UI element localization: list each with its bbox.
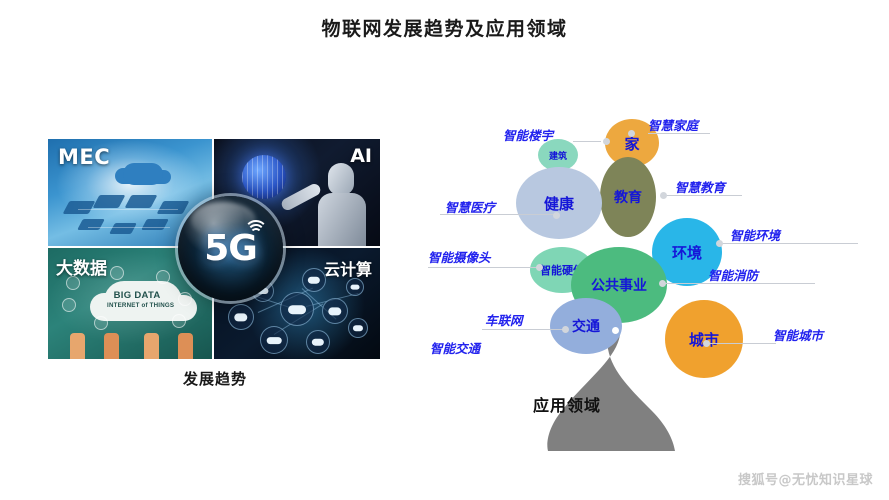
cloud-node-icon	[322, 298, 348, 324]
cloud-node-icon	[302, 268, 326, 292]
send-icon	[156, 270, 170, 284]
connector-knob-smart-fire	[659, 280, 666, 287]
right-caption: 应用领域	[533, 392, 601, 416]
server-tile-icon	[141, 219, 169, 230]
connector-knob-smart-medical	[553, 212, 560, 219]
collage-label-mec: MEC	[58, 145, 110, 169]
cloud-node-icon	[228, 304, 254, 330]
connector-knob-smart-city	[703, 340, 710, 347]
network-link	[88, 227, 170, 228]
cloud-node-icon	[306, 330, 330, 354]
domain-bubble-chengshi[interactable]: 城市	[665, 300, 743, 378]
connector-line-smart-city	[708, 343, 776, 344]
connector-line-smart-building	[573, 141, 601, 142]
connector-line-smart-camera	[428, 267, 538, 268]
domain-bubble-jiaotong[interactable]: 交通	[550, 298, 622, 354]
collage-label-big-data: 大数据	[56, 254, 107, 279]
cloud-node-icon	[348, 318, 368, 338]
shield-icon	[172, 314, 186, 328]
robot-body-icon	[318, 193, 366, 246]
hand-phone-icon	[178, 333, 193, 359]
five-g-label: 5G	[178, 196, 283, 301]
network-link	[78, 209, 178, 210]
leaf-label-smart-building: 智能楼宇	[503, 125, 553, 144]
hand-phone-icon	[70, 333, 85, 359]
cloud-icon	[123, 163, 163, 185]
hand-tablet-icon	[104, 333, 119, 359]
five-g-badge: 5G	[178, 196, 283, 301]
globe-icon	[242, 155, 286, 199]
server-tile-icon	[93, 195, 126, 208]
domain-bubble-jiaoyu[interactable]: 教育	[600, 157, 656, 237]
trunk-knob	[612, 327, 619, 334]
server-tile-icon	[77, 219, 105, 230]
left-caption: 发展趋势	[0, 368, 430, 389]
leaf-label-smart-city: 智能城市	[773, 325, 823, 344]
connector-knob-smart-education	[660, 192, 667, 199]
big-data-text-line2: INTERNET of THINGS	[107, 302, 174, 309]
server-tile-icon	[125, 195, 158, 208]
slide-canvas: 物联网发展趋势及应用领域 MEC AI BIG DAT	[0, 0, 889, 500]
leaf-label-smart-fire: 智能消防	[708, 265, 758, 284]
laptop-icon	[62, 298, 76, 312]
leaf-label-smart-camera: 智能摄像头	[428, 247, 491, 266]
cloud-icon	[104, 281, 182, 321]
big-data-text-line1: BIG DATA	[114, 290, 161, 301]
connector-knob-smart-building	[603, 138, 610, 145]
server-tile-icon	[109, 223, 137, 234]
leaf-label-smart-env: 智能环境	[730, 225, 780, 244]
domain-bubble-jiankang[interactable]: 健康	[516, 167, 602, 239]
connector-line-iov	[482, 329, 564, 330]
connector-knob-iov	[562, 326, 569, 333]
watermark: 搜狐号@无忧知识星球	[738, 469, 873, 488]
robot-arm-icon	[280, 182, 323, 212]
server-tile-icon	[63, 201, 96, 214]
page-title: 物联网发展趋势及应用领域	[0, 14, 889, 41]
connector-knob-smart-camera	[536, 264, 543, 271]
cloud-node-icon	[346, 278, 364, 296]
cloud-node-icon	[260, 326, 288, 354]
application-domains-tree: 建筑家教育健康环境智能硬件公共事业交通城市 智能楼宇智慧家庭智慧医疗智慧教育智能…	[420, 95, 889, 455]
leaf-label-smart-traffic: 智能交通	[430, 338, 480, 357]
hand-phone-icon	[144, 333, 159, 359]
connector-knob-smart-home	[628, 130, 635, 137]
leaf-label-smart-education: 智慧教育	[675, 177, 725, 196]
cloud-node-icon	[280, 292, 314, 326]
leaf-label-smart-home: 智慧家庭	[648, 115, 698, 134]
connector-knob-smart-env	[716, 240, 723, 247]
share-icon	[110, 266, 124, 280]
wifi-signal-icon	[241, 218, 263, 238]
grid-icon	[94, 316, 108, 330]
robot-head-icon	[328, 163, 354, 195]
leaf-label-smart-medical: 智慧医疗	[445, 197, 495, 216]
collage-label-ai: AI	[350, 145, 372, 167]
collage-label-cloud: 云计算	[324, 256, 372, 280]
leaf-label-iov: 车联网	[485, 310, 523, 329]
